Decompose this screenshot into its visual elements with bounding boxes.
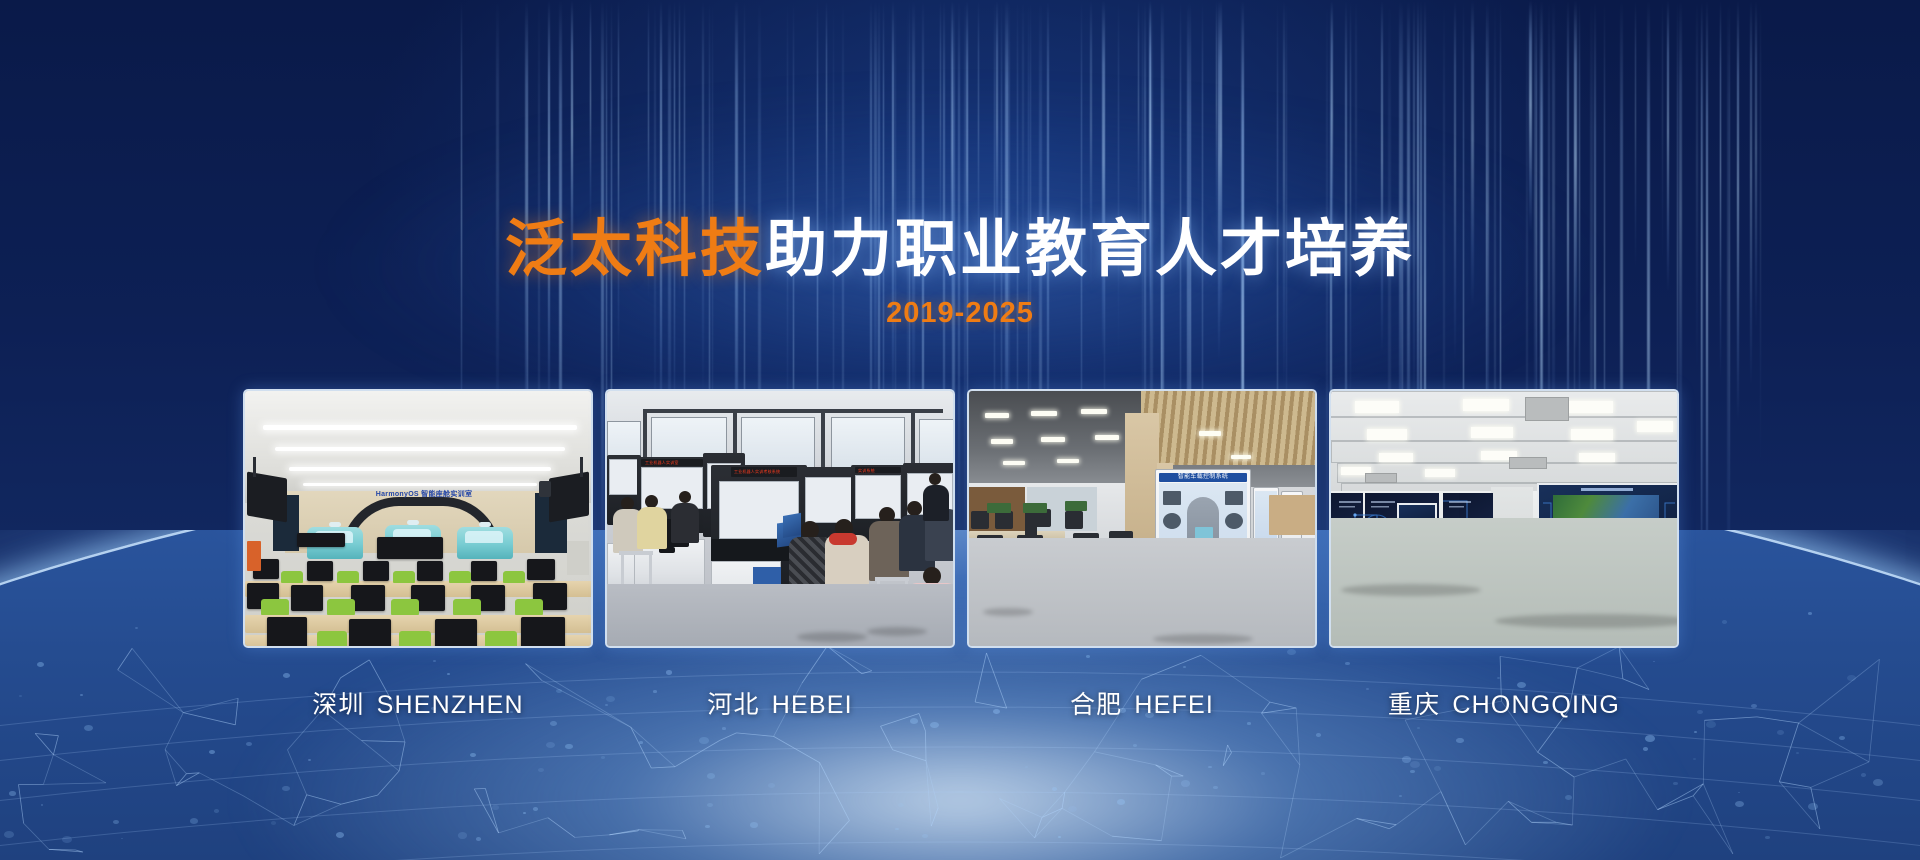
title-rest: 助力职业教育人才培养 <box>765 215 1415 284</box>
caption-en: HEBEI <box>772 691 853 719</box>
photo-frame-shenzhen[interactable]: HarmonyOS 智能座舱实训室 <box>243 389 593 648</box>
caption-hefei: 合肥HEFEI <box>967 685 1317 721</box>
gallery-item-shenzhen[interactable]: HarmonyOS 智能座舱实训室 <box>243 389 593 721</box>
caption-cn: 深圳 <box>312 691 364 719</box>
caption-hebei: 河北HEBEI <box>605 685 955 721</box>
gallery-item-chongqing[interactable]: 重庆CHONGQING <box>1329 389 1679 721</box>
photo-gallery: HarmonyOS 智能座舱实训室 <box>243 389 1677 721</box>
page-title: 泛太科技助力职业教育人才培养 <box>0 198 1920 288</box>
caption-en: CHONGQING <box>1452 691 1620 719</box>
caption-chongqing: 重庆CHONGQING <box>1329 685 1679 721</box>
hefei-vehicle-control-lab: 智能车载控制系统 <box>969 391 1315 646</box>
title-brand: 泛太科技 <box>505 215 765 284</box>
gallery-item-hebei[interactable]: 工业机器人实训室 工业机器人实训考核系统 实训 <box>605 389 955 721</box>
caption-cn: 重庆 <box>1388 691 1440 719</box>
photo-frame-chongqing[interactable] <box>1329 389 1679 648</box>
hebei-training-workstations: 工业机器人实训室 工业机器人实训考核系统 实训 <box>607 391 953 646</box>
banner-stage: 泛太科技助力职业教育人才培养 2019-2025 HarmonyOS 智能座舱实… <box>0 0 1920 860</box>
chongqing-smart-lab <box>1331 391 1677 646</box>
photo-frame-hefei[interactable]: 智能车载控制系统 <box>967 389 1317 648</box>
photo-frame-hebei[interactable]: 工业机器人实训室 工业机器人实训考核系统 实训 <box>605 389 955 648</box>
caption-en: HEFEI <box>1134 691 1214 719</box>
caption-en: SHENZHEN <box>377 691 524 719</box>
gallery-item-hefei[interactable]: 智能车载控制系统 <box>967 389 1317 721</box>
year-range: 2019-2025 <box>0 297 1920 330</box>
caption-shenzhen: 深圳SHENZHEN <box>243 685 593 721</box>
caption-cn: 合肥 <box>1070 691 1122 719</box>
shenzhen-smart-cockpit-classroom: HarmonyOS 智能座舱实训室 <box>245 391 591 646</box>
caption-cn: 河北 <box>707 691 759 719</box>
